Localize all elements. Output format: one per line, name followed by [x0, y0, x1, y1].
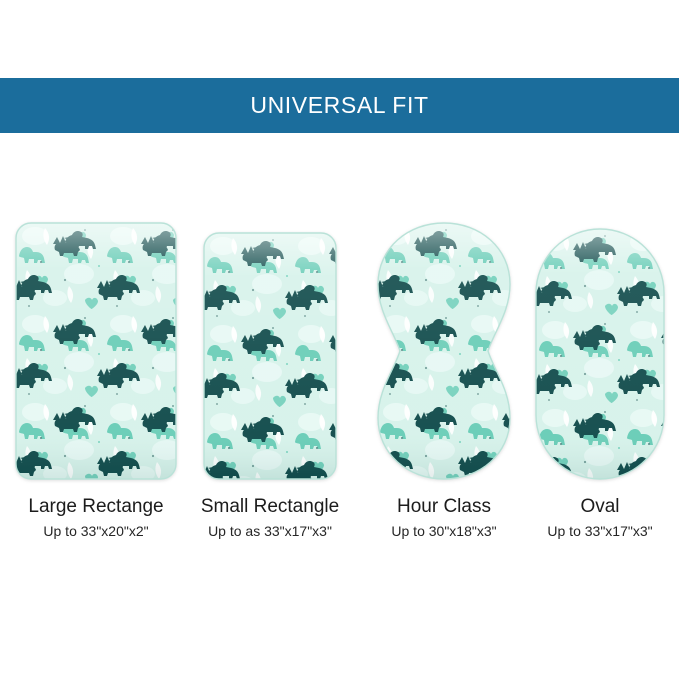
- label-oval: Oval Up to 33"x17"x3": [512, 495, 679, 541]
- label-dimensions: Up to 33"x17"x3": [512, 521, 679, 541]
- product-hour-glass[interactable]: [376, 222, 512, 480]
- label-title: Oval: [512, 495, 679, 519]
- oval-fabric: [535, 228, 665, 480]
- product-infographic: UNIVERSAL FIT: [0, 0, 679, 679]
- label-title: Small Rectangle: [180, 495, 360, 519]
- banner-title: UNIVERSAL FIT: [250, 92, 428, 119]
- label-dimensions: Up to as 33"x17"x3": [180, 521, 360, 541]
- label-hour-glass: Hour Class Up to 30"x18"x3": [356, 495, 532, 541]
- label-dimensions: Up to 33"x20"x2": [0, 521, 192, 541]
- hour-glass-fabric: [376, 222, 512, 480]
- universal-fit-banner: UNIVERSAL FIT: [0, 78, 679, 133]
- label-dimensions: Up to 30"x18"x3": [356, 521, 532, 541]
- product-small-rectangle[interactable]: [203, 232, 337, 480]
- product-oval[interactable]: [535, 228, 665, 480]
- small-rectangle-fabric: [203, 232, 337, 480]
- large-rectangle-fabric: [15, 222, 177, 480]
- product-shapes-row: Large Rectange Up to 33"x20"x2" Small Re…: [0, 210, 679, 550]
- label-large-rectangle: Large Rectange Up to 33"x20"x2": [0, 495, 192, 541]
- label-title: Large Rectange: [0, 495, 192, 519]
- product-large-rectangle[interactable]: [15, 222, 177, 480]
- label-small-rectangle: Small Rectangle Up to as 33"x17"x3": [180, 495, 360, 541]
- label-title: Hour Class: [356, 495, 532, 519]
